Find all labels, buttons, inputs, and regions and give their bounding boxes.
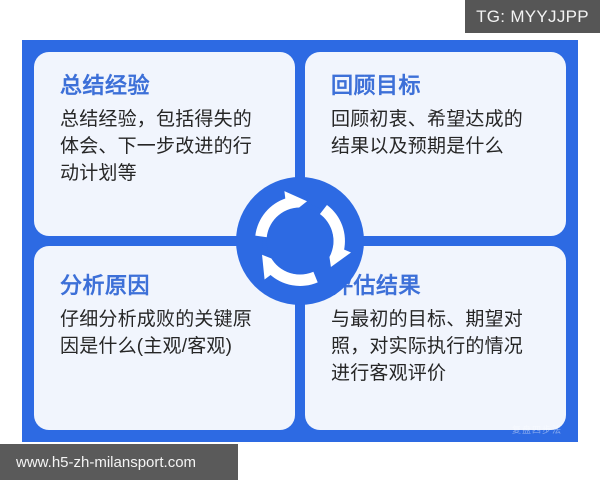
tg-badge-label: TG: MYYJJPP: [476, 7, 589, 27]
card-body: 回顾初衷、希望达成的结果以及预期是什么: [331, 107, 542, 161]
card-body: 总结经验，包括得失的体会、下一步改进的行动计划等: [60, 107, 271, 188]
tg-badge: TG: MYYJJPP: [465, 0, 600, 33]
cycle-arrows-icon: [236, 177, 364, 305]
card-grid: 总结经验 总结经验，包括得失的体会、下一步改进的行动计划等 回顾目标 回顾初衷、…: [34, 52, 566, 430]
site-watermark: www.h5-zh-milansport.com: [0, 444, 238, 480]
site-watermark-label: www.h5-zh-milansport.com: [16, 454, 196, 471]
card-title: 总结经验: [60, 74, 271, 98]
diagram-panel: 总结经验 总结经验，包括得失的体会、下一步改进的行动计划等 回顾目标 回顾初衷、…: [22, 40, 578, 442]
card-body: 与最初的目标、期望对照，对实际执行的情况进行客观评价: [331, 307, 542, 388]
card-title: 回顾目标: [331, 74, 542, 98]
card-body: 仔细分析成败的关键原因是什么(主观/客观): [60, 307, 271, 361]
